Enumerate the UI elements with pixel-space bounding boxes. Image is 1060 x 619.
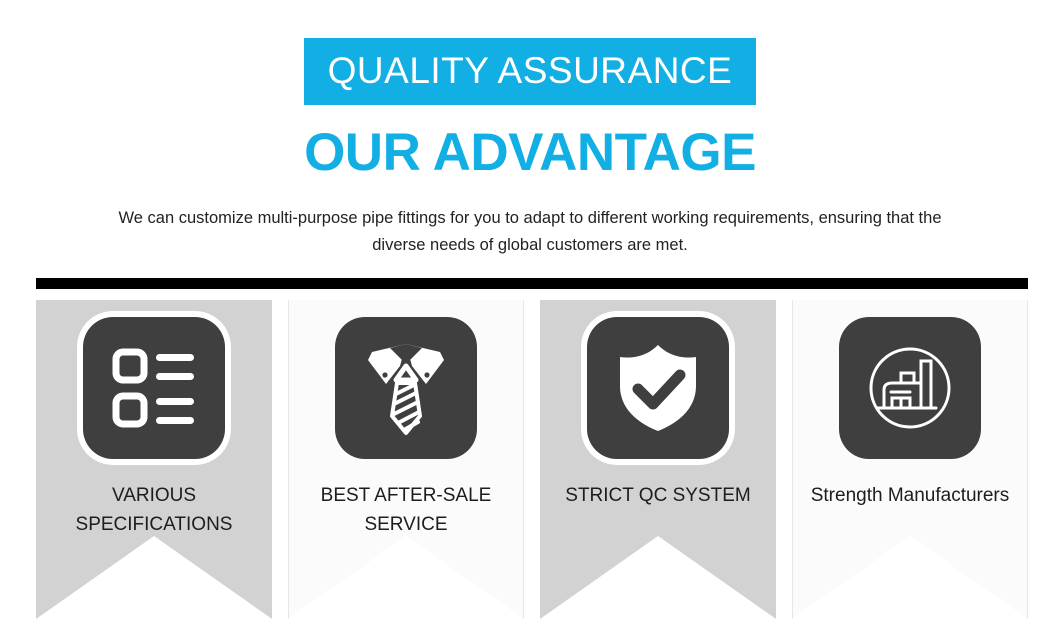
advantage-card[interactable]: VARIOUS SPECIFICATIONS: [36, 300, 272, 619]
section-description: We can customize multi-purpose pipe fitt…: [100, 205, 960, 259]
eyebrow-banner-wrap: QUALITY ASSURANCE: [0, 38, 1060, 105]
black-divider-bar: [36, 278, 1028, 289]
advantage-card[interactable]: STRICT QC SYSTEM: [540, 300, 776, 619]
advantage-card-label: Strength Manufacturers: [792, 481, 1028, 510]
list-specifications-icon: [83, 317, 225, 459]
shield-check-icon: [587, 317, 729, 459]
advantage-card[interactable]: Strength Manufacturers: [792, 300, 1028, 619]
page-title: OUR ADVANTAGE: [0, 126, 1060, 179]
advantage-card-label: BEST AFTER-SALE SERVICE: [288, 481, 524, 540]
necktie-icon: [335, 317, 477, 459]
advantage-card[interactable]: BEST AFTER-SALE SERVICE: [288, 300, 524, 619]
factory-circle-icon: [839, 317, 981, 459]
advantage-card-label: STRICT QC SYSTEM: [540, 481, 776, 510]
advantage-card-list: VARIOUS SPECIFICATIONS: [36, 300, 1028, 619]
advantage-section: QUALITY ASSURANCE OUR ADVANTAGE We can c…: [0, 0, 1060, 619]
eyebrow-banner: QUALITY ASSURANCE: [304, 38, 757, 105]
advantage-card-label: VARIOUS SPECIFICATIONS: [36, 481, 272, 540]
